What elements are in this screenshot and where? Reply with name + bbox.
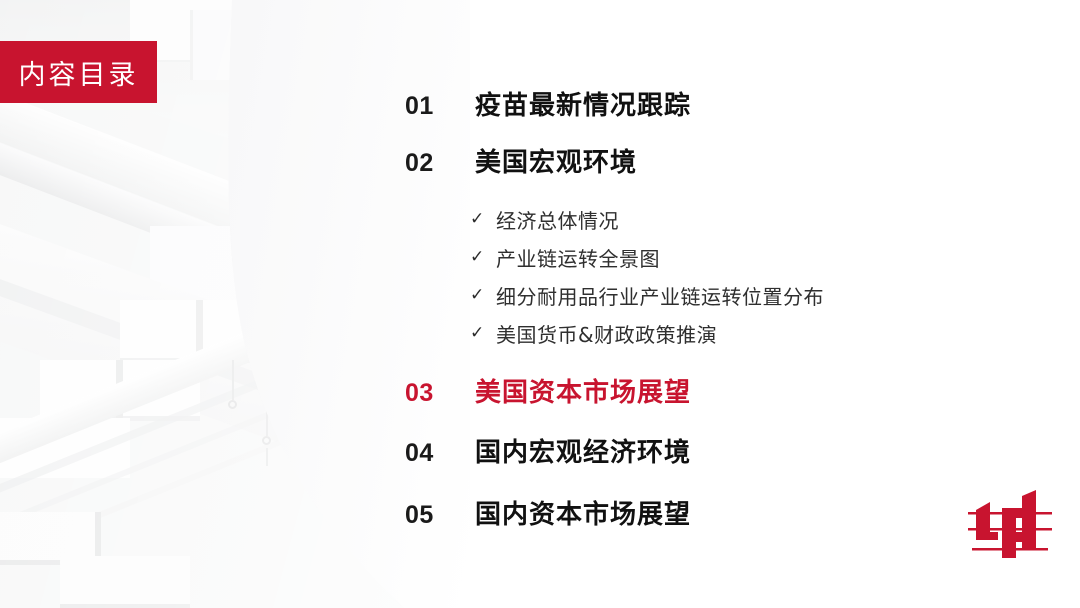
toc-number-02: 02: [405, 149, 475, 178]
toc-sub-list: ✓ 经济总体情况 ✓ 产业链运转全景图 ✓ 细分耐用品行业产业链运转位置分布 ✓…: [470, 200, 824, 352]
slide-root: 内容目录 01 疫苗最新情况跟踪 02 美国宏观环境 ✓ 经济总体情况 ✓ 产业…: [0, 0, 1080, 608]
toc-number-01: 01: [405, 92, 475, 121]
toc-label-04: 国内宏观经济环境: [475, 432, 691, 469]
toc-sub-label-4: 美国货币&财政政策推演: [496, 319, 717, 348]
toc-number-04: 04: [405, 439, 475, 468]
check-icon: ✓: [470, 325, 496, 342]
page-title-chip: 内容目录: [0, 41, 157, 103]
toc-sub-label-1: 经济总体情况: [496, 205, 619, 234]
check-icon: ✓: [470, 211, 496, 228]
toc-number-03: 03: [405, 379, 475, 408]
toc-item-04[interactable]: 04 国内宏观经济环境: [405, 432, 691, 469]
check-icon: ✓: [470, 249, 496, 266]
toc-label-05: 国内资本市场展望: [475, 494, 691, 531]
toc-sub-label-3: 细分耐用品行业产业链运转位置分布: [496, 281, 824, 310]
toc-item-03[interactable]: 03 美国资本市场展望: [405, 372, 691, 409]
toc-item-02[interactable]: 02 美国宏观环境: [405, 142, 637, 179]
toc-sub-item-1[interactable]: ✓ 经济总体情况: [470, 200, 824, 238]
toc-sub-item-4[interactable]: ✓ 美国货币&财政政策推演: [470, 314, 824, 352]
toc-list: 01 疫苗最新情况跟踪 02 美国宏观环境 ✓ 经济总体情况 ✓ 产业链运转全景…: [400, 0, 1020, 608]
toc-label-02: 美国宏观环境: [475, 142, 637, 179]
toc-label-03: 美国资本市场展望: [475, 372, 691, 409]
toc-number-05: 05: [405, 501, 475, 530]
toc-sub-label-2: 产业链运转全景图: [496, 243, 660, 272]
check-icon: ✓: [470, 287, 496, 304]
page-title: 内容目录: [19, 53, 139, 92]
toc-sub-item-2[interactable]: ✓ 产业链运转全景图: [470, 238, 824, 276]
toc-label-01: 疫苗最新情况跟踪: [475, 85, 691, 122]
toc-sub-item-3[interactable]: ✓ 细分耐用品行业产业链运转位置分布: [470, 276, 824, 314]
company-logo-icon: [968, 488, 1052, 558]
toc-item-01[interactable]: 01 疫苗最新情况跟踪: [405, 85, 691, 122]
toc-item-05[interactable]: 05 国内资本市场展望: [405, 494, 691, 531]
company-logo: [968, 488, 1052, 558]
